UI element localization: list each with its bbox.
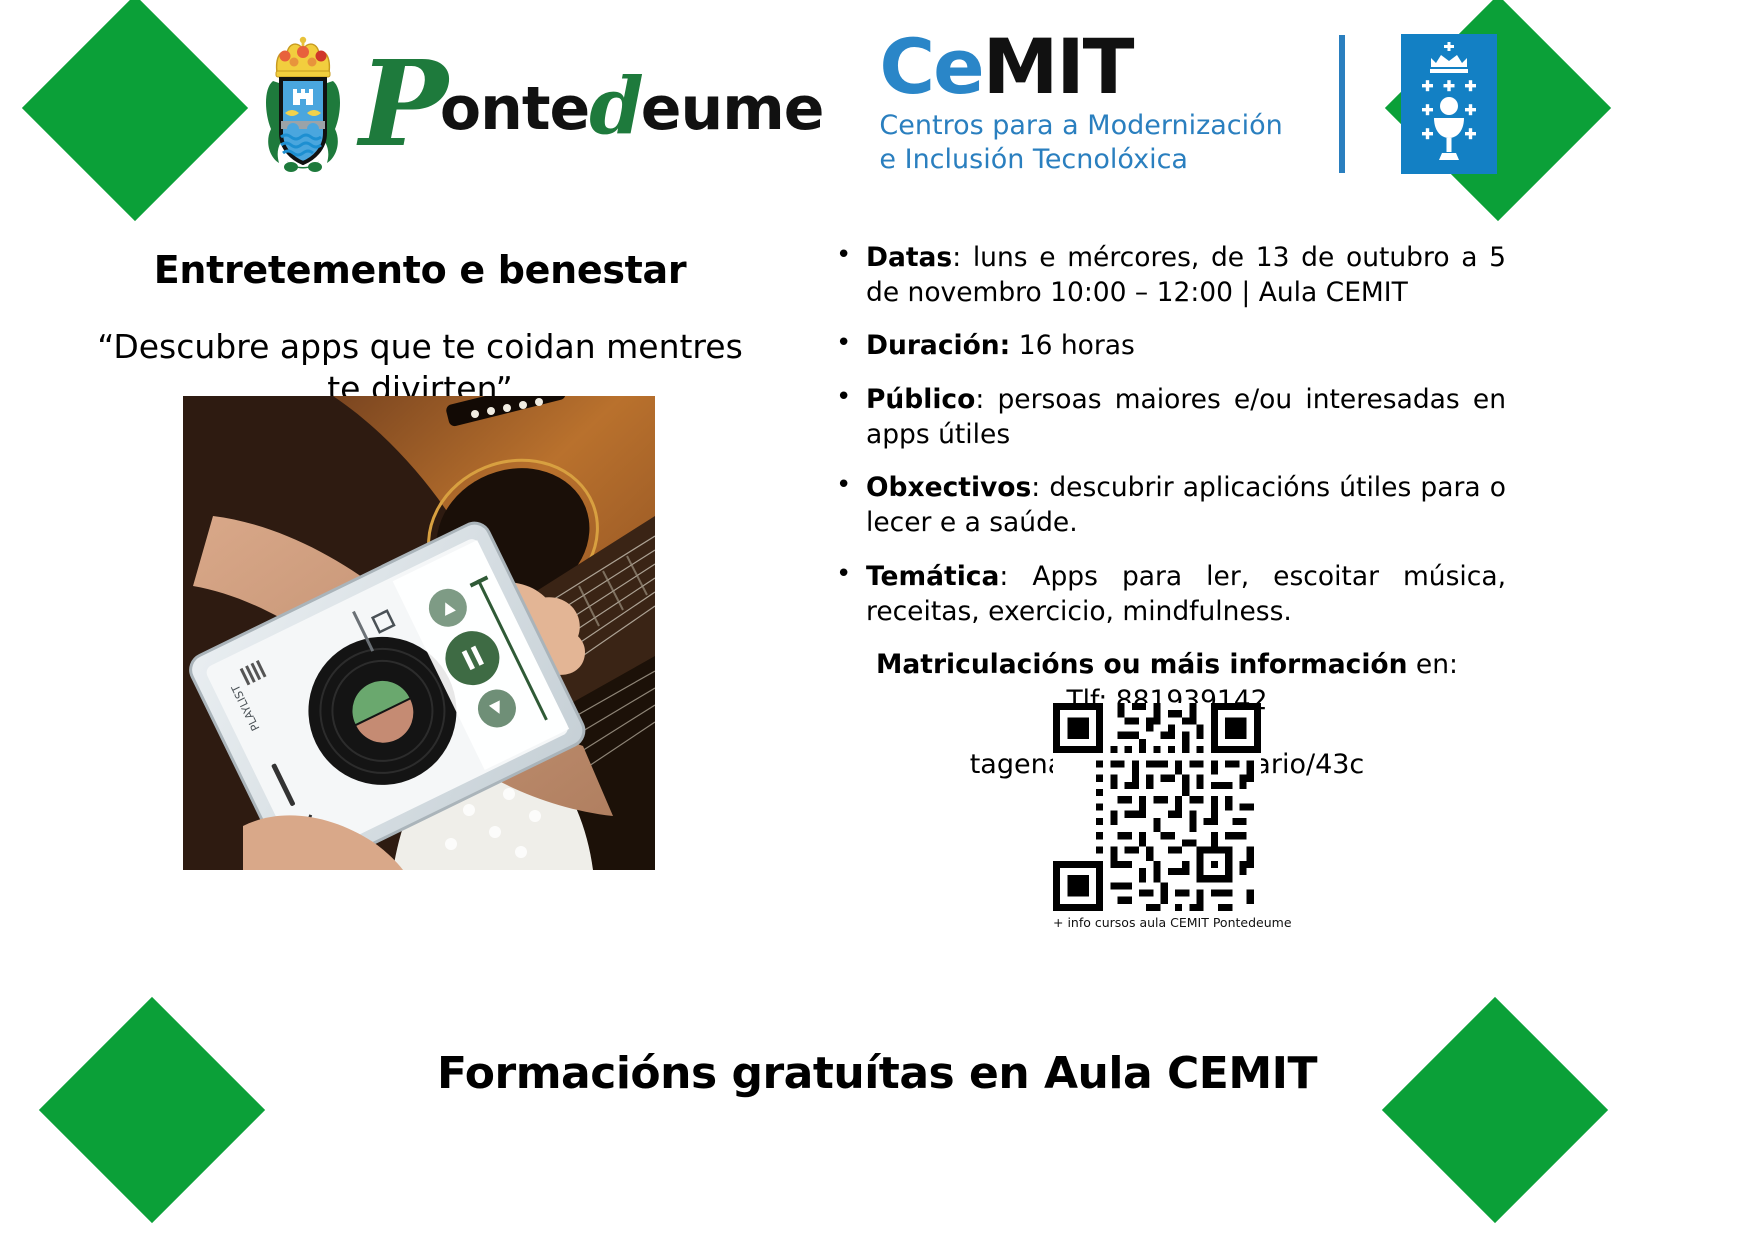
- cemit-tagline-line-2: e Inclusión Tecnolóxica: [879, 143, 1282, 177]
- detail-label-publico: Público: [866, 384, 975, 415]
- detail-separator-tematica: :: [999, 561, 1032, 592]
- pontedeume-letters-onte: onte: [440, 74, 589, 144]
- course-photo-illustration: PLAYLIST: [183, 396, 655, 870]
- header-logo-strip: Pontedeume CeMIT Centros para a Moderniz…: [0, 14, 1754, 194]
- detail-label-obxectivos: Obxectivos: [866, 472, 1031, 503]
- course-details-list: Datas: luns e mércores, de 13 de outubro…: [828, 240, 1506, 629]
- decorative-diamond-bottom-left: [39, 997, 265, 1223]
- cemit-ce-text: Ce: [879, 22, 982, 111]
- qr-code-block: + info cursos aula CEMIT Pontedeume: [1053, 703, 1261, 930]
- decorative-diamond-bottom-right: [1382, 997, 1608, 1223]
- pontedeume-letter-d: d: [589, 61, 641, 152]
- detail-item-publico: Público: persoas maiores e/ou interesada…: [828, 382, 1506, 452]
- xunta-de-galicia-emblem-icon: [1401, 34, 1497, 174]
- detail-item-datas: Datas: luns e mércores, de 13 de outubro…: [828, 240, 1506, 310]
- qr-code-caption: + info cursos aula CEMIT Pontedeume: [1053, 915, 1261, 930]
- logo-divider: [1339, 35, 1345, 173]
- detail-separator-duracion: [1010, 330, 1018, 361]
- detail-item-obxectivos: Obxectivos: descubrir aplicacións útiles…: [828, 470, 1506, 540]
- footer-banner: Formacións gratuítas en Aula CEMIT: [0, 1048, 1754, 1099]
- enrollment-heading-strong: Matriculacións ou máis información: [876, 649, 1407, 680]
- course-photo: PLAYLIST: [183, 396, 655, 870]
- detail-item-tematica: Temática: Apps para ler, escoitar música…: [828, 559, 1506, 629]
- enrollment-heading-rest: en:: [1408, 649, 1458, 680]
- xunta-chalice-crown-icon: [1401, 34, 1497, 174]
- detail-separator-publico: :: [975, 384, 997, 415]
- cemit-wordmark: CeMIT: [879, 31, 1282, 103]
- detail-label-datas: Datas: [866, 242, 952, 273]
- course-details-panel: Datas: luns e mércores, de 13 de outubro…: [828, 240, 1506, 780]
- detail-item-duracion: Duración: 16 horas: [828, 328, 1506, 363]
- cemit-mit-text: MIT: [983, 22, 1133, 111]
- pontedeume-letter-p: P: [359, 34, 440, 173]
- cemit-logo: CeMIT Centros para a Modernización e Inc…: [879, 31, 1282, 177]
- cemit-tagline-line-1: Centros para a Modernización: [879, 109, 1282, 143]
- qr-code-icon[interactable]: [1053, 703, 1261, 911]
- pontedeume-letters-eume: eume: [641, 74, 824, 144]
- cemit-tagline: Centros para a Modernización e Inclusión…: [879, 109, 1282, 177]
- detail-label-duracion: Duración:: [866, 330, 1010, 361]
- enrollment-heading: Matriculacións ou máis información en:: [828, 647, 1506, 683]
- pontedeume-logo: Pontedeume: [257, 29, 823, 179]
- detail-label-tematica: Temática: [866, 561, 999, 592]
- course-title: Entretemento e benestar: [70, 248, 770, 292]
- detail-text-duracion: 16 horas: [1019, 330, 1135, 361]
- pontedeume-wordmark: Pontedeume: [359, 45, 823, 163]
- pontedeume-crest-icon: [257, 29, 349, 179]
- detail-separator-obxectivos: :: [1031, 472, 1049, 503]
- detail-separator-datas: :: [952, 242, 973, 273]
